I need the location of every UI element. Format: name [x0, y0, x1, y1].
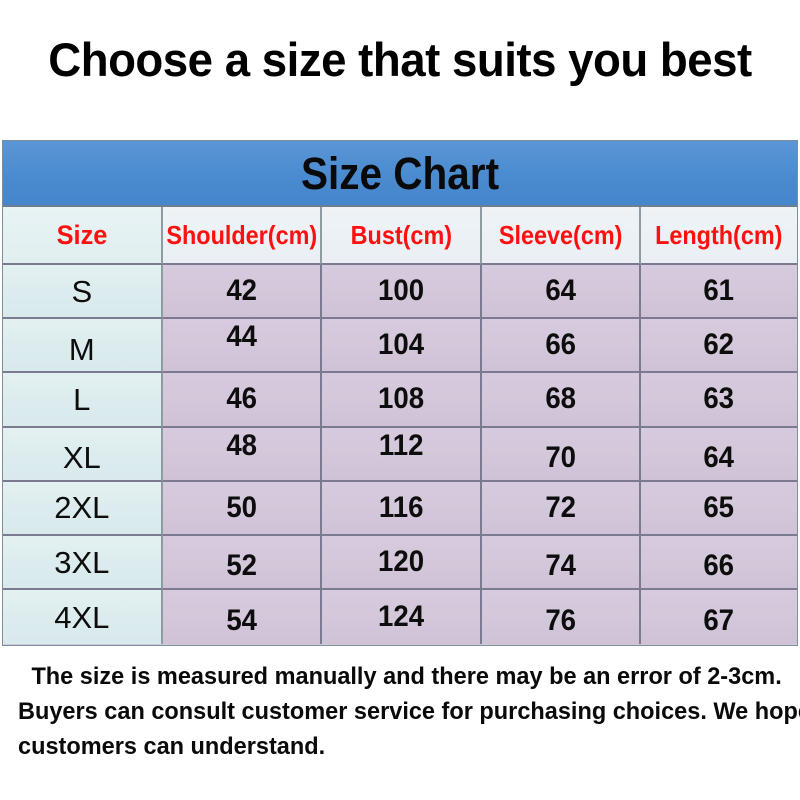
cell-length-value: 61 [704, 276, 735, 306]
cell-sleeve-value: 72 [545, 493, 576, 523]
table-row: 2XL 50 116 72 65 [3, 482, 797, 536]
table-row: 3XL 52 120 74 66 [3, 536, 797, 590]
cell-length-value: 65 [704, 493, 735, 523]
cell-length-value: 63 [704, 384, 735, 414]
table-row: S 42 100 64 61 [3, 265, 797, 319]
cell-sleeve: 64 [482, 265, 642, 319]
cell-bust: 112 [322, 428, 482, 482]
cell-sleeve-value: 70 [545, 443, 576, 473]
cell-sleeve: 66 [482, 319, 642, 373]
cell-sleeve-value: 74 [545, 551, 576, 581]
cell-length-value: 64 [704, 443, 735, 473]
cell-length: 66 [641, 536, 797, 590]
size-chart-banner-label: Size Chart [301, 151, 499, 196]
cell-shoulder-value: 52 [226, 551, 257, 581]
disclaimer-line-1: The size is measured manually and there … [18, 660, 755, 695]
column-header-sleeve-label: Sleeve(cm) [499, 222, 623, 248]
cell-sleeve-value: 64 [545, 276, 576, 306]
cell-sleeve: 68 [482, 373, 642, 427]
cell-shoulder-value: 44 [226, 322, 257, 352]
cell-size: 2XL [3, 482, 163, 536]
cell-size: L [3, 373, 163, 427]
column-header-shoulder-label: Shoulder(cm) [166, 222, 317, 248]
cell-length-value: 67 [704, 606, 735, 636]
cell-size-value: 3XL [54, 547, 109, 578]
cell-bust: 124 [322, 590, 482, 644]
table-row: L 46 108 68 63 [3, 373, 797, 427]
cell-shoulder: 48 [163, 428, 323, 482]
cell-size-value: 2XL [54, 492, 109, 523]
cell-size-value: XL [63, 442, 101, 473]
size-chart-banner: Size Chart [3, 141, 797, 207]
column-header-bust: Bust(cm) [322, 207, 482, 265]
column-header-size-label: Size [56, 222, 107, 249]
table-row: M 44 104 66 62 [3, 319, 797, 373]
cell-bust: 120 [322, 536, 482, 590]
column-header-sleeve: Sleeve(cm) [482, 207, 642, 265]
cell-size-value: L [73, 384, 90, 415]
cell-bust-value: 112 [379, 431, 424, 461]
cell-sleeve-value: 76 [545, 606, 576, 636]
size-chart-grid: Size Shoulder(cm) Bust(cm) Sleeve(cm) Le… [3, 207, 797, 645]
disclaimer-line-3: customers can understand. [18, 730, 755, 765]
cell-length: 62 [641, 319, 797, 373]
column-header-length-label: Length(cm) [655, 222, 782, 248]
column-header-shoulder: Shoulder(cm) [163, 207, 323, 265]
cell-shoulder: 42 [163, 265, 323, 319]
cell-length: 61 [641, 265, 797, 319]
cell-shoulder-value: 54 [226, 606, 257, 636]
cell-shoulder-value: 50 [226, 493, 257, 523]
cell-shoulder-value: 48 [226, 431, 257, 461]
cell-size: XL [3, 428, 163, 482]
table-header-row: Size Shoulder(cm) Bust(cm) Sleeve(cm) Le… [3, 207, 797, 265]
cell-length: 64 [641, 428, 797, 482]
cell-size: M [3, 319, 163, 373]
cell-bust: 104 [322, 319, 482, 373]
cell-sleeve-value: 68 [545, 384, 576, 414]
cell-sleeve: 74 [482, 536, 642, 590]
table-row: XL 48 112 70 64 [3, 428, 797, 482]
cell-length: 65 [641, 482, 797, 536]
column-header-size: Size [3, 207, 163, 265]
cell-size: S [3, 265, 163, 319]
page-title: Choose a size that suits you best [12, 36, 788, 83]
cell-shoulder: 46 [163, 373, 323, 427]
cell-bust: 108 [322, 373, 482, 427]
cell-bust-value: 104 [378, 330, 424, 360]
cell-size-value: M [69, 334, 95, 365]
disclaimer-line-2: Buyers can consult customer service for … [18, 695, 755, 730]
cell-shoulder: 54 [163, 590, 323, 644]
cell-shoulder: 52 [163, 536, 323, 590]
cell-size: 3XL [3, 536, 163, 590]
cell-shoulder-value: 42 [226, 276, 257, 306]
cell-sleeve-value: 66 [545, 330, 576, 360]
measurement-disclaimer: The size is measured manually and there … [18, 660, 755, 764]
size-chart-table: Size Chart Size Shoulder(cm) Bust(cm) Sl… [2, 140, 798, 646]
cell-bust-value: 116 [379, 493, 424, 523]
cell-shoulder-value: 46 [226, 384, 257, 414]
cell-sleeve: 70 [482, 428, 642, 482]
cell-size-value: 4XL [54, 602, 109, 633]
cell-bust: 100 [322, 265, 482, 319]
cell-size-value: S [71, 276, 92, 307]
column-header-length: Length(cm) [641, 207, 797, 265]
table-row: 4XL 54 124 76 67 [3, 590, 797, 644]
cell-bust-value: 120 [378, 547, 424, 577]
cell-bust: 116 [322, 482, 482, 536]
cell-size: 4XL [3, 590, 163, 644]
cell-bust-value: 124 [378, 602, 424, 632]
column-header-bust-label: Bust(cm) [350, 222, 451, 248]
cell-length: 67 [641, 590, 797, 644]
cell-bust-value: 108 [378, 384, 424, 414]
cell-length-value: 66 [704, 551, 735, 581]
cell-sleeve: 72 [482, 482, 642, 536]
cell-bust-value: 100 [378, 276, 424, 306]
cell-shoulder: 44 [163, 319, 323, 373]
cell-length-value: 62 [704, 330, 735, 360]
cell-shoulder: 50 [163, 482, 323, 536]
cell-sleeve: 76 [482, 590, 642, 644]
cell-length: 63 [641, 373, 797, 427]
